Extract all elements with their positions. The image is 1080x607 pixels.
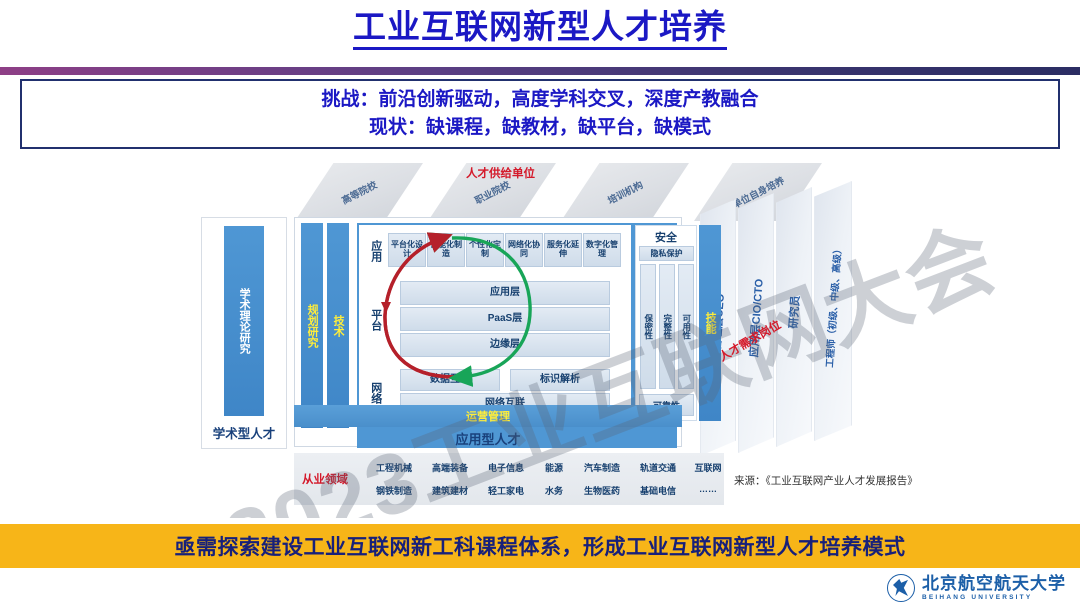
tier-cell: 数据互通 <box>400 369 500 391</box>
tier-cell: 应用层 <box>400 281 610 305</box>
academic-talent-caption: 学术型人才 <box>202 423 286 442</box>
industry-field: 水务 <box>534 484 574 497</box>
university-logo: 北京航空航天大学 BEIHANG UNIVERSITY <box>887 572 1066 604</box>
security-cell-label: 保密性 <box>643 314 653 340</box>
industry-field: …… <box>686 484 730 494</box>
slide-root: 工业互联网新型人才培养 挑战：前沿创新驱动，高度学科交叉，深度产教融合 现状：缺… <box>0 0 1080 607</box>
technology-label: 技术 <box>332 315 344 337</box>
tier-cell: 标识解析 <box>510 369 610 391</box>
security-cell: 保密性 <box>640 264 656 389</box>
supply-unit-label: 高等院校 <box>339 177 379 207</box>
tier-cell: 边缘层 <box>400 333 610 357</box>
planning-research-label: 规划研究 <box>306 304 318 348</box>
challenge-status-box: 挑战：前沿创新驱动，高度学科交叉，深度产教融合 现状：缺课程，缺教材，缺平台，缺… <box>20 79 1060 149</box>
supply-units-title: 人才供给单位 <box>466 165 535 181</box>
industry-fields-band: 从业领域 工程机械 高端装备 电子信息 能源 汽车制造 轨道交通 互联网 钢铁制… <box>294 453 724 505</box>
page-title: 工业互联网新型人才培养 <box>353 8 727 50</box>
academic-research-block: 学术理论研究 学术型人才 <box>201 217 287 449</box>
industry-field: 基础电信 <box>630 484 686 497</box>
technology-column: 技术 <box>327 223 349 428</box>
industry-field: 建筑建材 <box>422 484 478 497</box>
security-title: 安全 <box>636 229 696 245</box>
purple-divider <box>0 67 1080 75</box>
supply-unit-label: 培训机构 <box>605 177 645 207</box>
supply-unit-label: 职业院校 <box>472 177 512 207</box>
operations-management-bar: 运营管理 <box>294 405 682 427</box>
tier-label-text: 应用 <box>369 240 381 262</box>
tier-cells: 应用层 PaaS层 边缘层 <box>388 279 626 361</box>
supply-unit-tile: 高等院校 <box>295 163 423 221</box>
tier-cell: 平台化设计 <box>388 233 426 267</box>
title-area: 工业互联网新型人才培养 <box>0 8 1080 50</box>
industry-field: 互联网 <box>686 461 730 474</box>
applied-talent-caption: 应用型人才 <box>294 429 682 448</box>
industry-field: 电子信息 <box>478 461 534 474</box>
industry-fields-title: 从业领域 <box>302 471 348 487</box>
industry-field: 工程机械 <box>366 461 422 474</box>
industry-field: 钢铁制造 <box>366 484 422 497</box>
security-cell: 可用性 <box>678 264 694 389</box>
demand-role-label: 研究员 <box>785 295 803 329</box>
tier-cell: 个性化定制 <box>466 233 504 267</box>
logo-name-en: BEIHANG UNIVERSITY <box>922 595 1066 602</box>
beihang-emblem-icon <box>887 574 915 602</box>
industry-field: 轨道交通 <box>630 461 686 474</box>
security-panel: 安全 隐私保护 保密性 完整性 可用性 可靠性 <box>635 225 697 421</box>
demand-role-panel: 工程师（初级、中级、高级） <box>814 181 852 441</box>
tier-application: 应用 平台化设计 智能化制造 个性化定制 网络化协同 服务化延伸 数字化管理 <box>362 229 628 273</box>
security-cell: 完整性 <box>659 264 675 389</box>
challenge-line-2: 现状：缺课程，缺教材，缺平台，缺模式 <box>369 114 711 142</box>
demand-role-label: 工程师（初级、中级、高级） <box>822 244 845 368</box>
logo-name-cn: 北京航空航天大学 <box>922 575 1066 592</box>
challenge-line-1: 挑战：前沿创新驱动，高度学科交叉，深度产教融合 <box>321 86 758 114</box>
industry-field: 汽车制造 <box>574 461 630 474</box>
industry-field: 生物医药 <box>574 484 630 497</box>
security-cell-label: 完整性 <box>662 314 672 340</box>
logo-text: 北京航空航天大学 BEIHANG UNIVERSITY <box>922 575 1066 602</box>
conclusion-banner: 亟需探索建设工业互联网新工科课程体系，形成工业互联网新型人才培养模式 <box>0 524 1080 568</box>
supply-unit-tile: 培训机构 <box>561 163 689 221</box>
tier-label-text: 网络 <box>369 382 381 404</box>
talent-framework-diagram: 高等院校 职业院校 培训机构 单位自身培养 人才供给单位 管理层CEO 应用层C… <box>0 155 1080 518</box>
tier-cells: 平台化设计 智能化制造 个性化定制 网络化协同 服务化延伸 数字化管理 <box>388 229 626 273</box>
privacy-protection-label: 隐私保护 <box>639 246 694 261</box>
tier-cell: 数字化管理 <box>583 233 621 267</box>
tier-label-text: 平台 <box>369 309 381 331</box>
tier-label: 应用 <box>364 229 386 273</box>
skill-column: 技能 <box>699 225 721 421</box>
academic-research-label: 学术理论研究 <box>238 288 250 354</box>
skill-label: 技能 <box>704 312 716 334</box>
conclusion-banner-text: 亟需探索建设工业互联网新工科课程体系，形成工业互联网新型人才培养模式 <box>175 531 906 561</box>
demand-role-panel: 研究员 <box>776 187 812 447</box>
industry-field: 高端装备 <box>422 461 478 474</box>
tier-platform: 平台 应用层 PaaS层 边缘层 <box>362 279 628 361</box>
source-citation: 来源：《工业互联网产业人才发展报告》 <box>734 473 918 488</box>
industry-fields-grid: 工程机械 高端装备 电子信息 能源 汽车制造 轨道交通 互联网 钢铁制造 建筑建… <box>366 457 720 501</box>
slide-footer: 北京航空航天大学 BEIHANG UNIVERSITY <box>0 568 1080 607</box>
tier-cell: PaaS层 <box>400 307 610 331</box>
framework-inner-white: 应用 平台化设计 智能化制造 个性化定制 网络化协同 服务化延伸 数字化管理 <box>359 225 631 421</box>
academic-research-bar: 学术理论研究 <box>224 226 264 416</box>
planning-research-column: 规划研究 <box>301 223 323 428</box>
tier-cell: 服务化延伸 <box>544 233 582 267</box>
tier-label: 平台 <box>364 279 386 361</box>
industry-field: 轻工家电 <box>478 484 534 497</box>
tier-cell: 网络化协同 <box>505 233 543 267</box>
security-cell-label: 可用性 <box>681 314 691 340</box>
industry-field: 能源 <box>534 461 574 474</box>
tier-cell: 智能化制造 <box>427 233 465 267</box>
